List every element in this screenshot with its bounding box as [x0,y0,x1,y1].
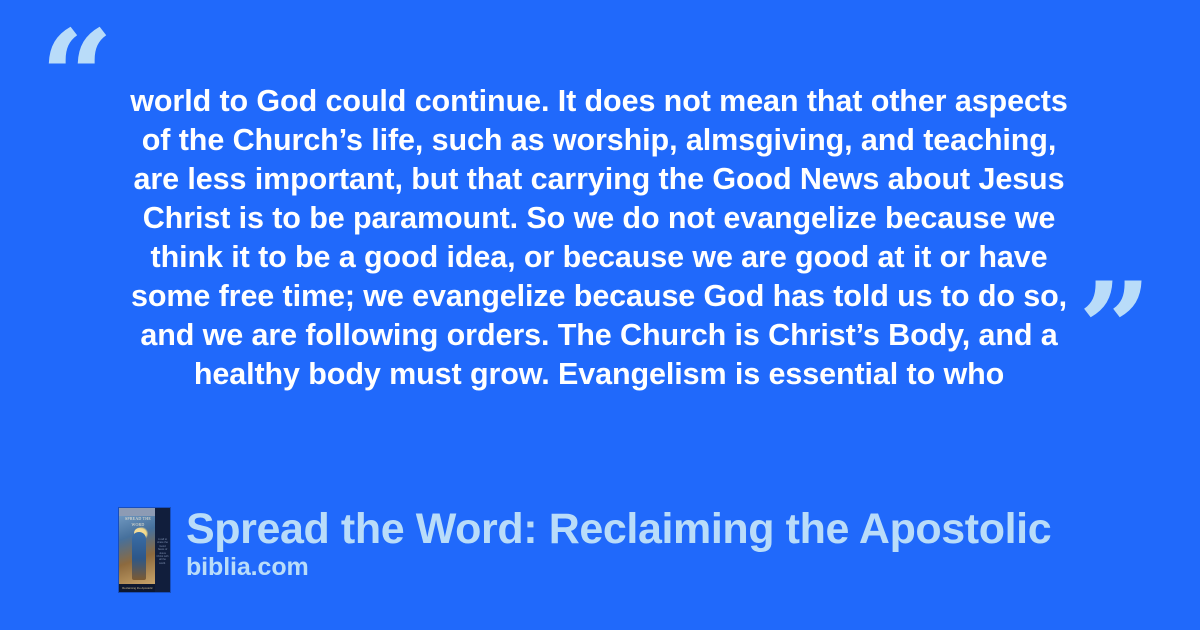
site-name: biblia.com [186,553,1051,581]
opening-quotation-mark-icon: “ [40,14,114,142]
cover-blurb-text: A call to share the Good News of Jesus C… [156,538,169,565]
figure-illustration [132,532,146,580]
cover-title-text: Spread the Word [120,516,156,528]
book-title: Spread the Word: Reclaiming the Apostoli… [186,505,1051,553]
closing-quotation-mark-icon: ” [1078,266,1152,394]
source-attribution: A call to share the Good News of Jesus C… [119,505,1051,592]
cover-subtitle-text: Reclaiming the Apostolic [119,586,156,590]
book-cover-thumbnail: A call to share the Good News of Jesus C… [119,508,170,592]
quote-body: world to God could continue. It does not… [118,82,1080,394]
source-text-group: Spread the Word: Reclaiming the Apostoli… [186,505,1051,581]
cover-side-panel: A call to share the Good News of Jesus C… [155,508,170,592]
quote-card: “ world to God could continue. It does n… [0,0,1200,630]
quote-text: world to God could continue. It does not… [118,82,1080,394]
